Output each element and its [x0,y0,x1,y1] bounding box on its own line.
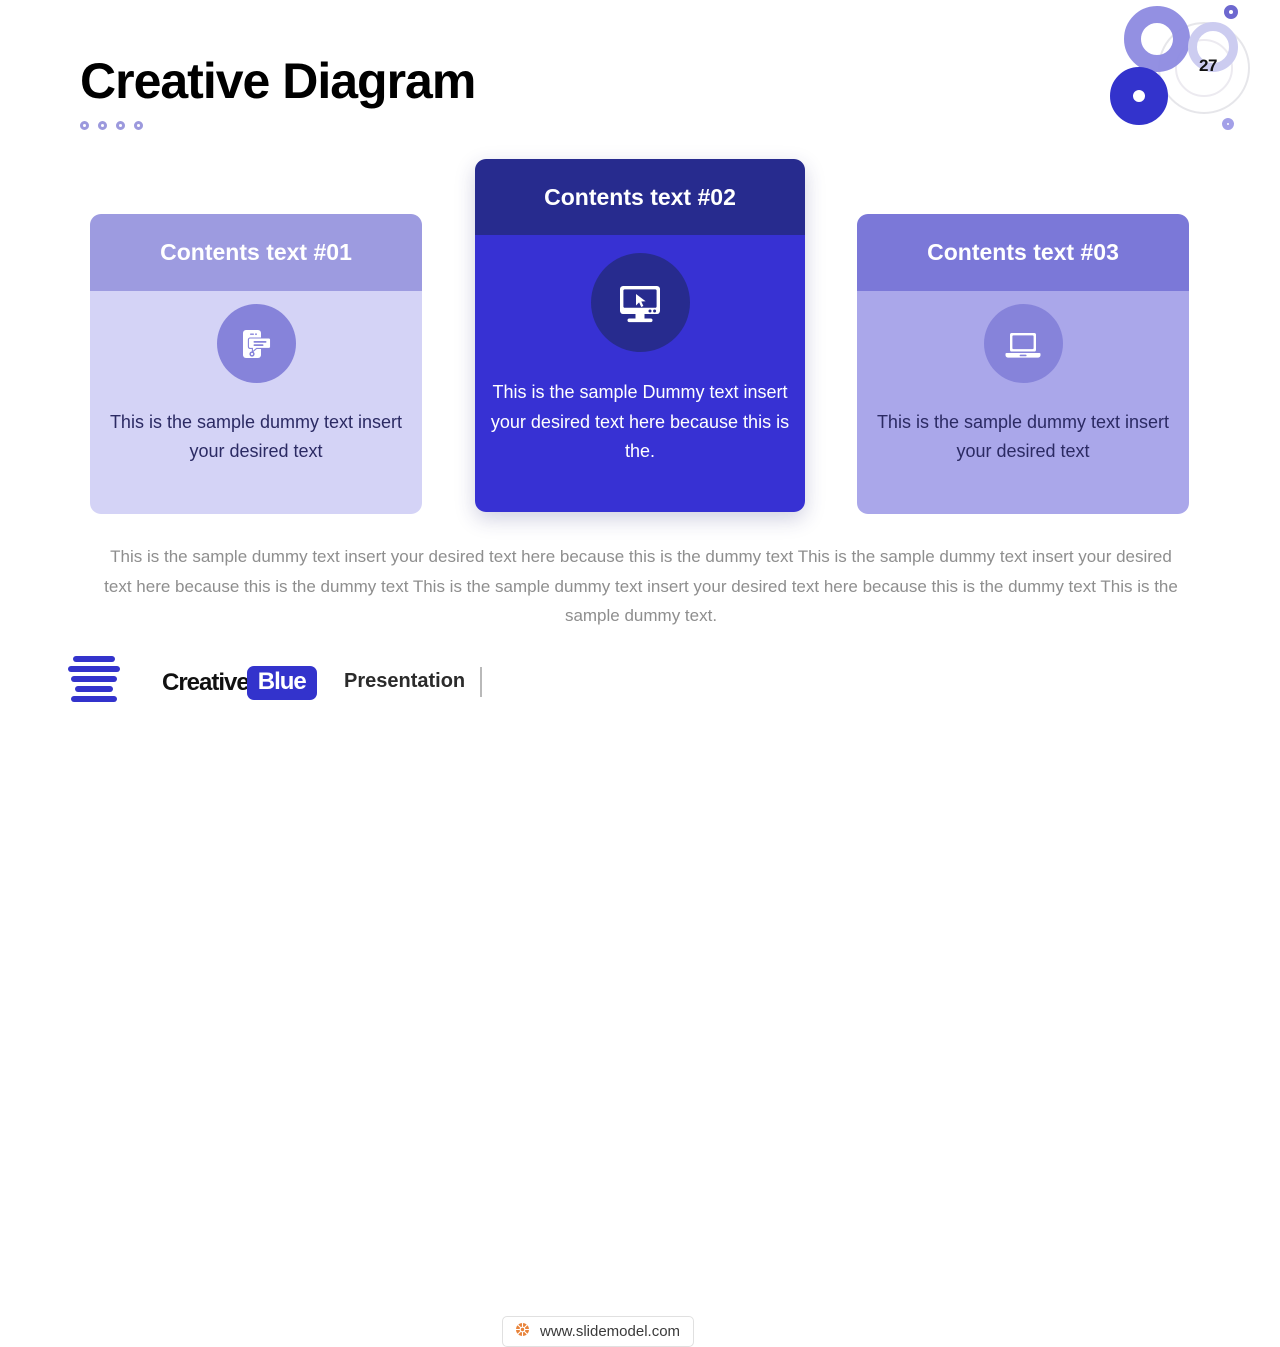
laptop-icon [984,304,1063,383]
description-paragraph: This is the sample dummy text insert you… [95,542,1187,631]
brand-badge: Blue [247,666,317,700]
card-3[interactable]: Contents text #03 This is the sample dum… [857,214,1189,514]
card-2-body: This is the sample Dummy text insert you… [475,235,805,512]
footer-subtitle: Presentation [344,670,465,693]
card-3-body: This is the sample dummy text insert you… [857,291,1189,514]
smartphone-chat-icon [217,304,296,383]
brand-logo: Creative Blue [162,666,317,700]
card-1-text: This is the sample dummy text insert you… [90,408,422,466]
card-3-header: Contents text #03 [857,214,1189,291]
card-2-text: This is the sample Dummy text insert you… [475,378,805,467]
stacked-bars-logo-icon [68,656,120,702]
footer-divider [480,667,482,697]
globe-icon [514,1321,531,1343]
brand-primary-text: Creative [162,669,249,697]
card-1-header: Contents text #01 [90,214,422,291]
footer: Creative Blue Presentation www.slidemode… [0,648,1280,720]
card-1-body: This is the sample dummy text insert you… [90,291,422,514]
monitor-cursor-icon [591,253,690,352]
card-3-text: This is the sample dummy text insert you… [857,408,1189,466]
card-1[interactable]: Contents text #01 This is the sample dum… [90,214,422,514]
website-url-text: www.slidemodel.com [540,1323,680,1340]
card-2-header: Contents text #02 [475,159,805,235]
card-2[interactable]: Contents text #02 This is the sample Dum… [475,159,805,512]
website-url-pill[interactable]: www.slidemodel.com [502,1316,694,1347]
